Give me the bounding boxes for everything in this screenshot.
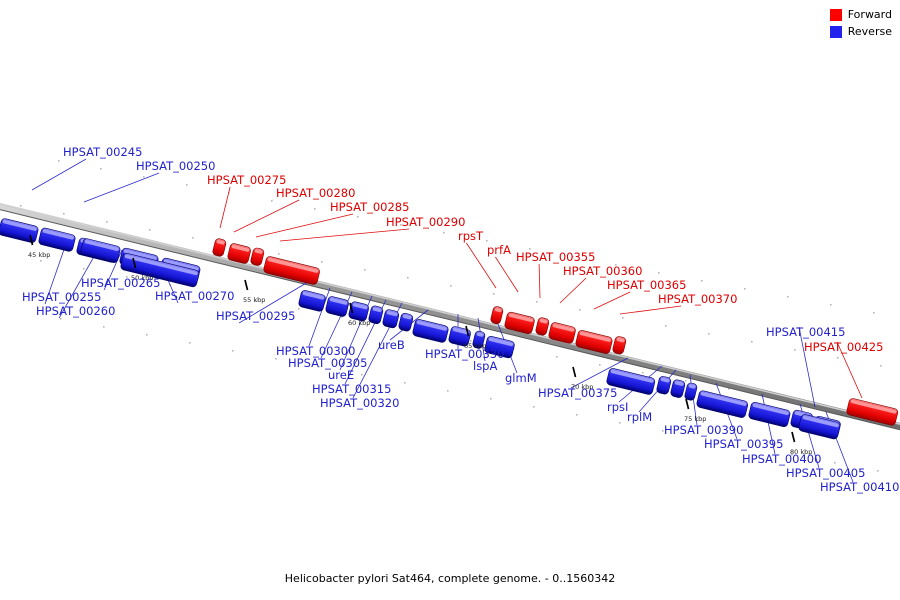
speckle [787,296,789,298]
gene-label-HPSAT_00365: HPSAT_00365 [607,278,686,292]
speckle [744,288,746,290]
speckle [622,317,624,319]
axis-tick-mark [573,367,576,377]
speckle [58,160,60,162]
gene-label-rpsI: rpsI [607,400,628,414]
gene-rpsT[interactable] [490,306,504,325]
speckle [490,398,492,400]
gene-rplM[interactable] [670,379,686,398]
speckle [493,293,495,295]
speckle [486,240,488,242]
legend-label-forward: Forward [848,9,892,21]
leader-line-prfA [495,257,518,292]
gene-label-ureE: ureE [328,368,354,382]
gene-label-HPSAT_00360: HPSAT_00360 [563,264,642,278]
speckle [619,422,621,424]
gene-label-prfA: prfA [487,243,511,257]
gene-HPSAT_00245[interactable] [38,227,76,252]
speckle [232,350,234,352]
speckle [361,374,363,376]
speckle [275,358,277,360]
gene-label-HPSAT_00275: HPSAT_00275 [207,173,286,187]
axis-tick-mark [245,280,248,290]
gene-label-HPSAT_00400: HPSAT_00400 [742,452,821,466]
speckle [834,462,836,464]
speckle [599,364,601,366]
gene-label-HPSAT_00265: HPSAT_00265 [81,276,160,290]
genome-diagram: 45 kbp50 kbp55 kbp60 kbp65 kbp70 kbp75 k… [0,0,900,600]
gene-label-HPSAT_00320: HPSAT_00320 [320,396,399,410]
leader-line-HPSAT_00285 [256,214,353,237]
gene-label-HPSAT_00245: HPSAT_00245 [63,145,142,159]
speckle [579,309,581,311]
gene-HPSAT_00275[interactable] [212,238,227,257]
speckle [149,229,151,231]
speckle [450,285,452,287]
gene-label-rplM: rplM [627,410,652,424]
speckle [40,260,42,262]
genome-axis [0,203,900,432]
leader-line-HPSAT_00370 [620,306,681,314]
gene-label-HPSAT_00355: HPSAT_00355 [516,250,595,264]
speckle [146,334,148,336]
gene-label-HPSAT_00415: HPSAT_00415 [766,325,845,339]
speckle [192,237,194,239]
speckle [103,326,105,328]
speckle [60,318,62,320]
speckle [642,372,644,374]
strand-legend: Forward Reverse [830,8,892,42]
leader-line-HPSAT_00245 [32,159,86,190]
reverse-strand-swatch [830,26,842,38]
legend-label-reverse: Reverse [848,26,892,38]
figure-caption: Helicobacter pylori Sat464, complete gen… [0,572,900,585]
gene-HPSAT_00390[interactable] [684,382,698,401]
speckle [271,200,273,202]
leader-line-HPSAT_00415 [799,327,815,407]
gene-HPSAT_00295[interactable] [298,290,326,312]
gene-HPSAT_00315[interactable] [382,309,400,329]
speckle [533,406,535,408]
gene-label-glmM: glmM [505,371,537,385]
backbone-bar [0,205,900,428]
speckle [278,253,280,255]
gene-label-HPSAT_00270: HPSAT_00270 [155,289,234,303]
speckle [364,269,366,271]
gene-ureB[interactable] [412,319,449,344]
axis-tick-label: 60 kbp [348,319,370,327]
gene-label-lspA: lspA [473,359,497,373]
leader-line-HPSAT_00280 [234,200,299,232]
speckle [880,365,882,367]
gene-label-ureB: ureB [378,338,405,352]
speckle [186,184,188,186]
gene-label-HPSAT_00405: HPSAT_00405 [786,466,865,480]
gene-HPSAT_00300[interactable] [325,296,349,318]
speckle [83,268,85,270]
speckle [701,280,703,282]
gene-label-HPSAT_00280: HPSAT_00280 [276,186,355,200]
speckle [658,272,660,274]
gene-label-rpsT: rpsT [458,229,484,243]
axis-tick-mark [792,432,795,442]
gene-body [325,296,349,318]
speckle [100,168,102,170]
axis-tick-label: 45 kbp [28,251,50,259]
speckle [576,414,578,416]
gene-label-HPSAT_00255: HPSAT_00255 [22,290,101,304]
gene-label-HPSAT_00250: HPSAT_00250 [136,159,215,173]
gene-features [0,218,899,440]
gene-HPSAT_00240[interactable] [0,218,39,244]
forward-strand-swatch [830,9,842,21]
gene-HPSAT_00265[interactable] [80,238,121,264]
leader-line-HPSAT_00290 [280,229,409,241]
speckle [708,333,710,335]
gene-label-HPSAT_00375: HPSAT_00375 [538,386,617,400]
gene-HPSAT_00355[interactable] [535,317,550,336]
gene-HPSAT_00285[interactable] [250,247,265,266]
gene-HPSAT_00400[interactable] [748,401,791,427]
speckle [877,470,879,472]
gene-HPSAT_00370[interactable] [612,336,627,355]
gene-HPSAT_00320[interactable] [398,312,414,331]
gene-label-HPSAT_00395: HPSAT_00395 [704,437,783,451]
leader-line-HPSAT_00360 [560,278,586,303]
speckle [189,342,191,344]
leader-line-HPSAT_00275 [220,187,230,228]
speckle [63,213,65,215]
gene-rpsI[interactable] [656,376,672,395]
speckle [407,277,409,279]
speckle [873,312,875,314]
speckle [751,341,753,343]
speckle [830,304,832,306]
speckle [556,356,558,358]
speckle [404,382,406,384]
speckle [106,221,108,223]
speckle [357,216,359,218]
leader-line-HPSAT_00355 [539,264,540,298]
leader-line-HPSAT_00250 [84,173,159,202]
speckle [20,205,22,207]
gene-label-HPSAT_00390: HPSAT_00390 [664,423,743,437]
speckle [536,301,538,303]
gene-label-HPSAT_00285: HPSAT_00285 [330,200,409,214]
axis-tick-label: 55 kbp [243,296,265,304]
speckle [443,232,445,234]
gene-label-HPSAT_00370: HPSAT_00370 [658,292,737,306]
speckle [794,349,796,351]
speckle [314,208,316,210]
speckle [298,308,300,310]
axis-tick-label: 75 kbp [684,415,706,423]
gene-label-HPSAT_00315: HPSAT_00315 [312,382,391,396]
gene-body [298,290,326,312]
gene-label-HPSAT_00295: HPSAT_00295 [216,309,295,323]
speckle [447,390,449,392]
speckle [143,176,145,178]
speckle [685,380,687,382]
axis-tick-mark [686,399,689,409]
leader-line-HPSAT_00365 [594,292,630,309]
legend-item-reverse: Reverse [830,25,892,39]
speckle [665,325,667,327]
genome-map-canvas: 45 kbp50 kbp55 kbp60 kbp65 kbp70 kbp75 k… [0,0,900,600]
gene-label-HPSAT_00425: HPSAT_00425 [804,340,883,354]
gene-label-HPSAT_00410: HPSAT_00410 [820,480,899,494]
legend-item-forward: Forward [830,8,892,22]
gene-label-HPSAT_00290: HPSAT_00290 [386,215,465,229]
gene-label-HPSAT_00260: HPSAT_00260 [36,304,115,318]
speckle [837,357,839,359]
speckle [321,261,323,263]
